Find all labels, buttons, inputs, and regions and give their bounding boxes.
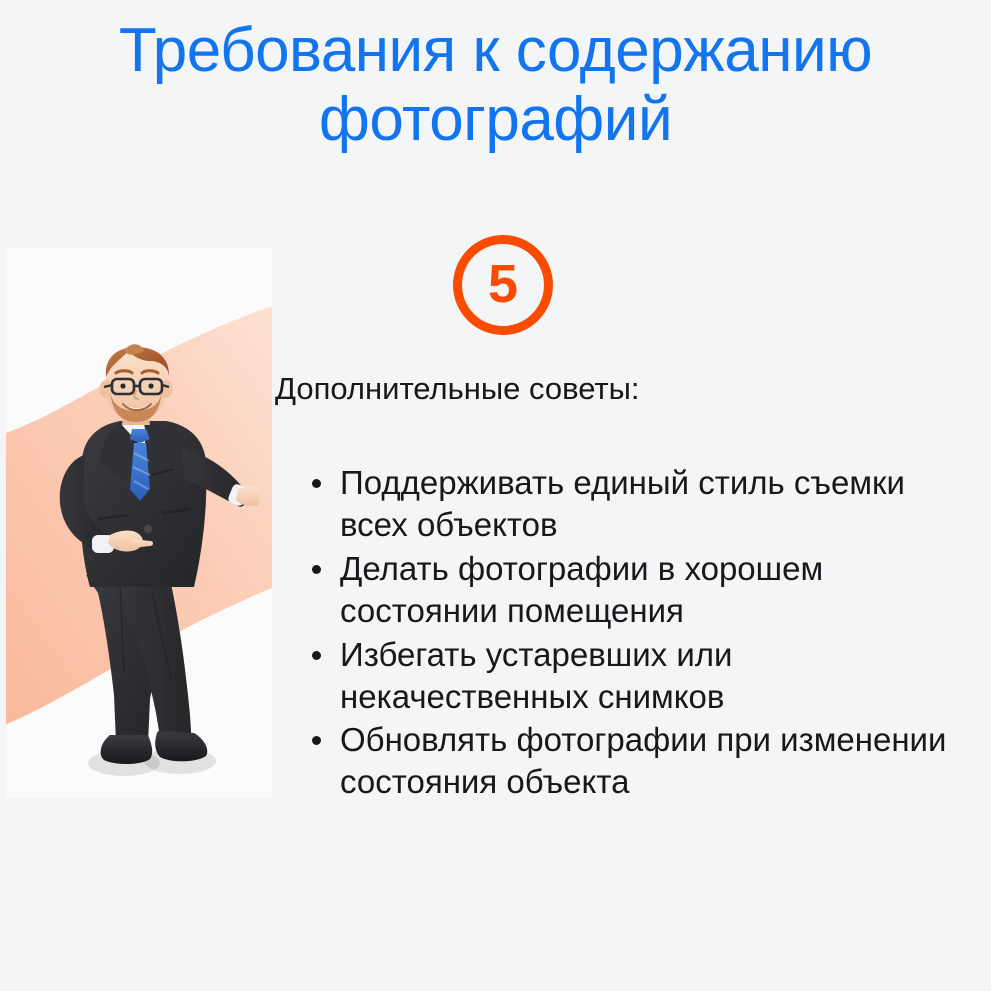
illustration-panel — [6, 248, 272, 798]
list-item-label: Обновлять фотографии при изменении состо… — [340, 721, 946, 800]
lead-text: Дополнительные советы: — [275, 370, 795, 407]
list-item-label: Делать фотографии в хорошем состоянии по… — [340, 550, 823, 629]
slide-root: Требования к содержанию фотографий 5 — [0, 0, 991, 991]
bullet-icon — [312, 479, 321, 488]
bullet-icon — [312, 565, 321, 574]
bullet-icon — [312, 736, 321, 745]
tips-list: Поддерживать единый стиль съемки всех об… — [300, 462, 950, 805]
list-item-label: Поддерживать единый стиль съемки всех об… — [340, 464, 905, 543]
list-item: Избегать устаревших или некачественных с… — [300, 634, 950, 718]
list-item: Поддерживать единый стиль съемки всех об… — [300, 462, 950, 546]
list-item-label: Избегать устаревших или некачественных с… — [340, 636, 732, 715]
step-number-badge: 5 — [453, 235, 553, 335]
page-title: Требования к содержанию фотографий — [40, 16, 951, 155]
list-item: Обновлять фотографии при изменении состо… — [300, 719, 950, 803]
step-number-value: 5 — [488, 257, 518, 311]
businessman-illustration — [24, 343, 259, 788]
bullet-icon — [312, 651, 321, 660]
list-item: Делать фотографии в хорошем состоянии по… — [300, 548, 950, 632]
